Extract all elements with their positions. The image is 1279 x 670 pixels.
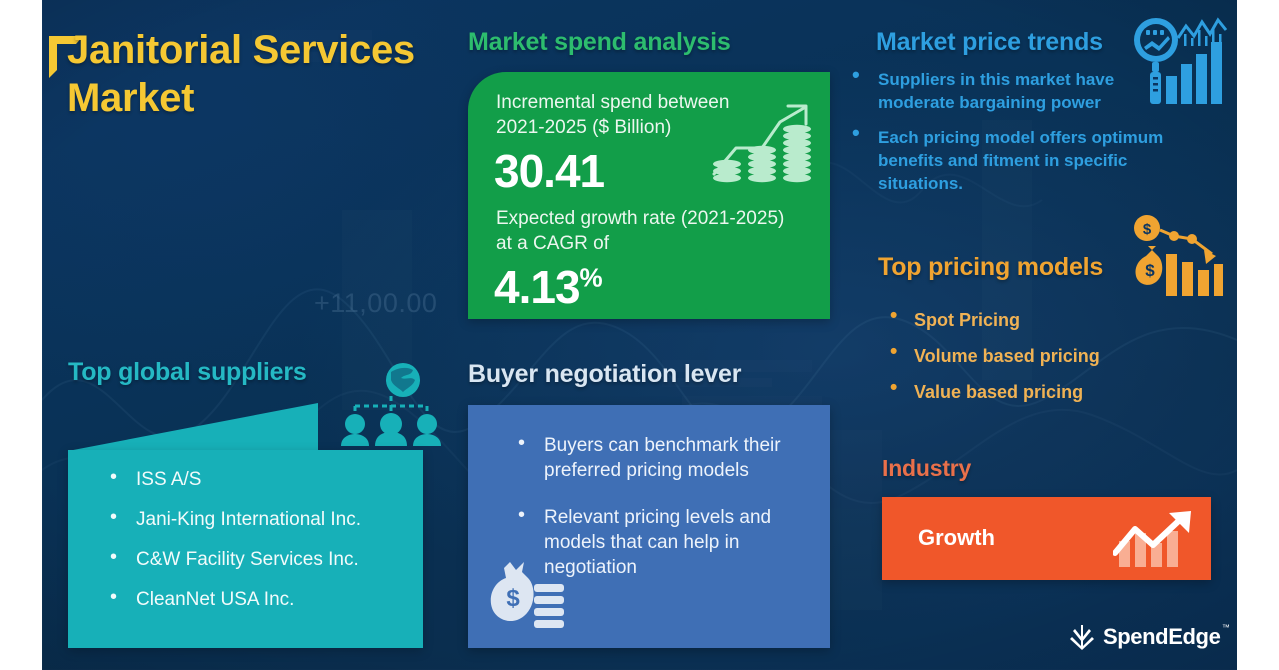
cagr-unit: % <box>580 263 602 293</box>
brand-name: SpendEdge™ <box>1103 624 1220 650</box>
suppliers-list: ISS A/S Jani-King International Inc. C&W… <box>94 468 424 628</box>
incremental-spend-value: 30.41 <box>494 144 604 198</box>
list-item: Buyers can benchmark their preferred pri… <box>508 433 808 483</box>
top-pricing-models-list: Spot Pricing Volume based pricing Value … <box>880 308 1180 416</box>
list-item: Jani-King International Inc. <box>94 508 424 532</box>
cagr-value-wrap: 4.13% <box>494 260 602 314</box>
buyer-negotiation-heading: Buyer negotiation lever <box>468 360 741 389</box>
svg-text:$: $ <box>1143 221 1152 238</box>
buyer-negotiation-card: Buyers can benchmark their preferred pri… <box>468 405 830 648</box>
industry-status-banner: Growth <box>882 497 1211 580</box>
page-title-line2: Market <box>67 76 194 120</box>
page-title-line1: Janitorial Services <box>67 28 415 72</box>
cagr-label: Expected growth rate (2021-2025) at a CA… <box>496 206 786 256</box>
top-pricing-models-heading: Top pricing models <box>878 253 1103 282</box>
top-global-suppliers-card: ISS A/S Jani-King International Inc. C&W… <box>68 450 423 648</box>
globe-network-suppliers-icon <box>341 362 441 446</box>
market-spend-heading: Market spend analysis <box>468 28 731 57</box>
background-watermark-number: +11,00.00 <box>314 288 437 319</box>
industry-status-label: Growth <box>918 525 995 551</box>
coin-stacks-growth-arrow-icon <box>710 98 814 186</box>
list-item: ISS A/S <box>94 468 424 492</box>
page-title: Janitorial Services Market <box>67 26 447 122</box>
market-spend-card: Incremental spend between 2021-2025 ($ B… <box>468 72 830 319</box>
market-price-trends-list: Suppliers in this market have moderate b… <box>844 68 1174 207</box>
list-item: Volume based pricing <box>880 344 1180 368</box>
industry-heading: Industry <box>882 455 971 482</box>
cagr-value: 4.13 <box>494 261 580 313</box>
spendedge-trident-logo-icon <box>1068 623 1096 651</box>
brand-logo: SpendEdge™ <box>1068 620 1228 654</box>
market-price-trends-heading: Market price trends <box>876 28 1103 57</box>
page-title-block: Janitorial Services Market <box>47 26 447 122</box>
svg-text:$: $ <box>506 585 520 612</box>
list-item: Value based pricing <box>880 380 1180 404</box>
svg-text:$: $ <box>1145 261 1155 280</box>
top-global-suppliers-heading: Top global suppliers <box>68 358 307 387</box>
suppliers-callout-pointer <box>68 403 318 451</box>
money-bag-coins-icon: $ <box>490 558 568 634</box>
list-item: Suppliers in this market have moderate b… <box>844 68 1174 114</box>
growth-arrow-bars-icon <box>1113 509 1197 569</box>
list-item: Spot Pricing <box>880 308 1180 332</box>
list-item: C&W Facility Services Inc. <box>94 548 424 572</box>
list-item: CleanNet USA Inc. <box>94 588 424 612</box>
infographic-canvas: +11,00.00 Janitorial Services Market Mar… <box>0 0 1279 670</box>
trademark-symbol: ™ <box>1222 623 1230 632</box>
list-item: Each pricing model offers optimum benefi… <box>844 126 1174 195</box>
money-bag-declining-chart-icon: $ $ <box>1130 214 1224 298</box>
